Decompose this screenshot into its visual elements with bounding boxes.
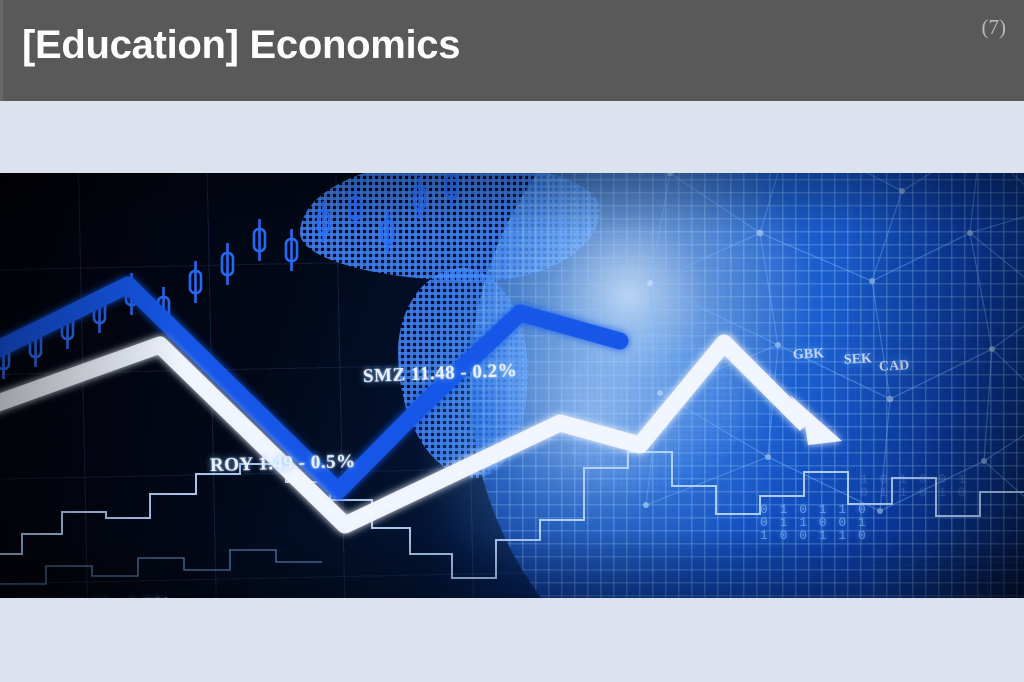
slide-header-bar: [Education] Economics (7) xyxy=(0,0,1024,101)
currency-label-cad: CAD xyxy=(879,358,910,376)
trend-lines-overlay xyxy=(0,173,1024,598)
page-number: (7) xyxy=(982,14,1007,40)
page-title: [Education] Economics xyxy=(22,21,460,69)
ticker-label-roy: ROY 1.49 - 0.5% xyxy=(210,451,356,477)
currency-label-sek: SEK xyxy=(844,351,873,368)
slide-root: [Education] Economics (7) xyxy=(0,0,1024,682)
currency-label-gbk: GBK xyxy=(793,346,825,364)
economics-stock-market-image: 0 1 0 1 1 0 0 1 1 0 0 1 1 0 0 1 1 0 1 0 … xyxy=(0,173,1024,598)
